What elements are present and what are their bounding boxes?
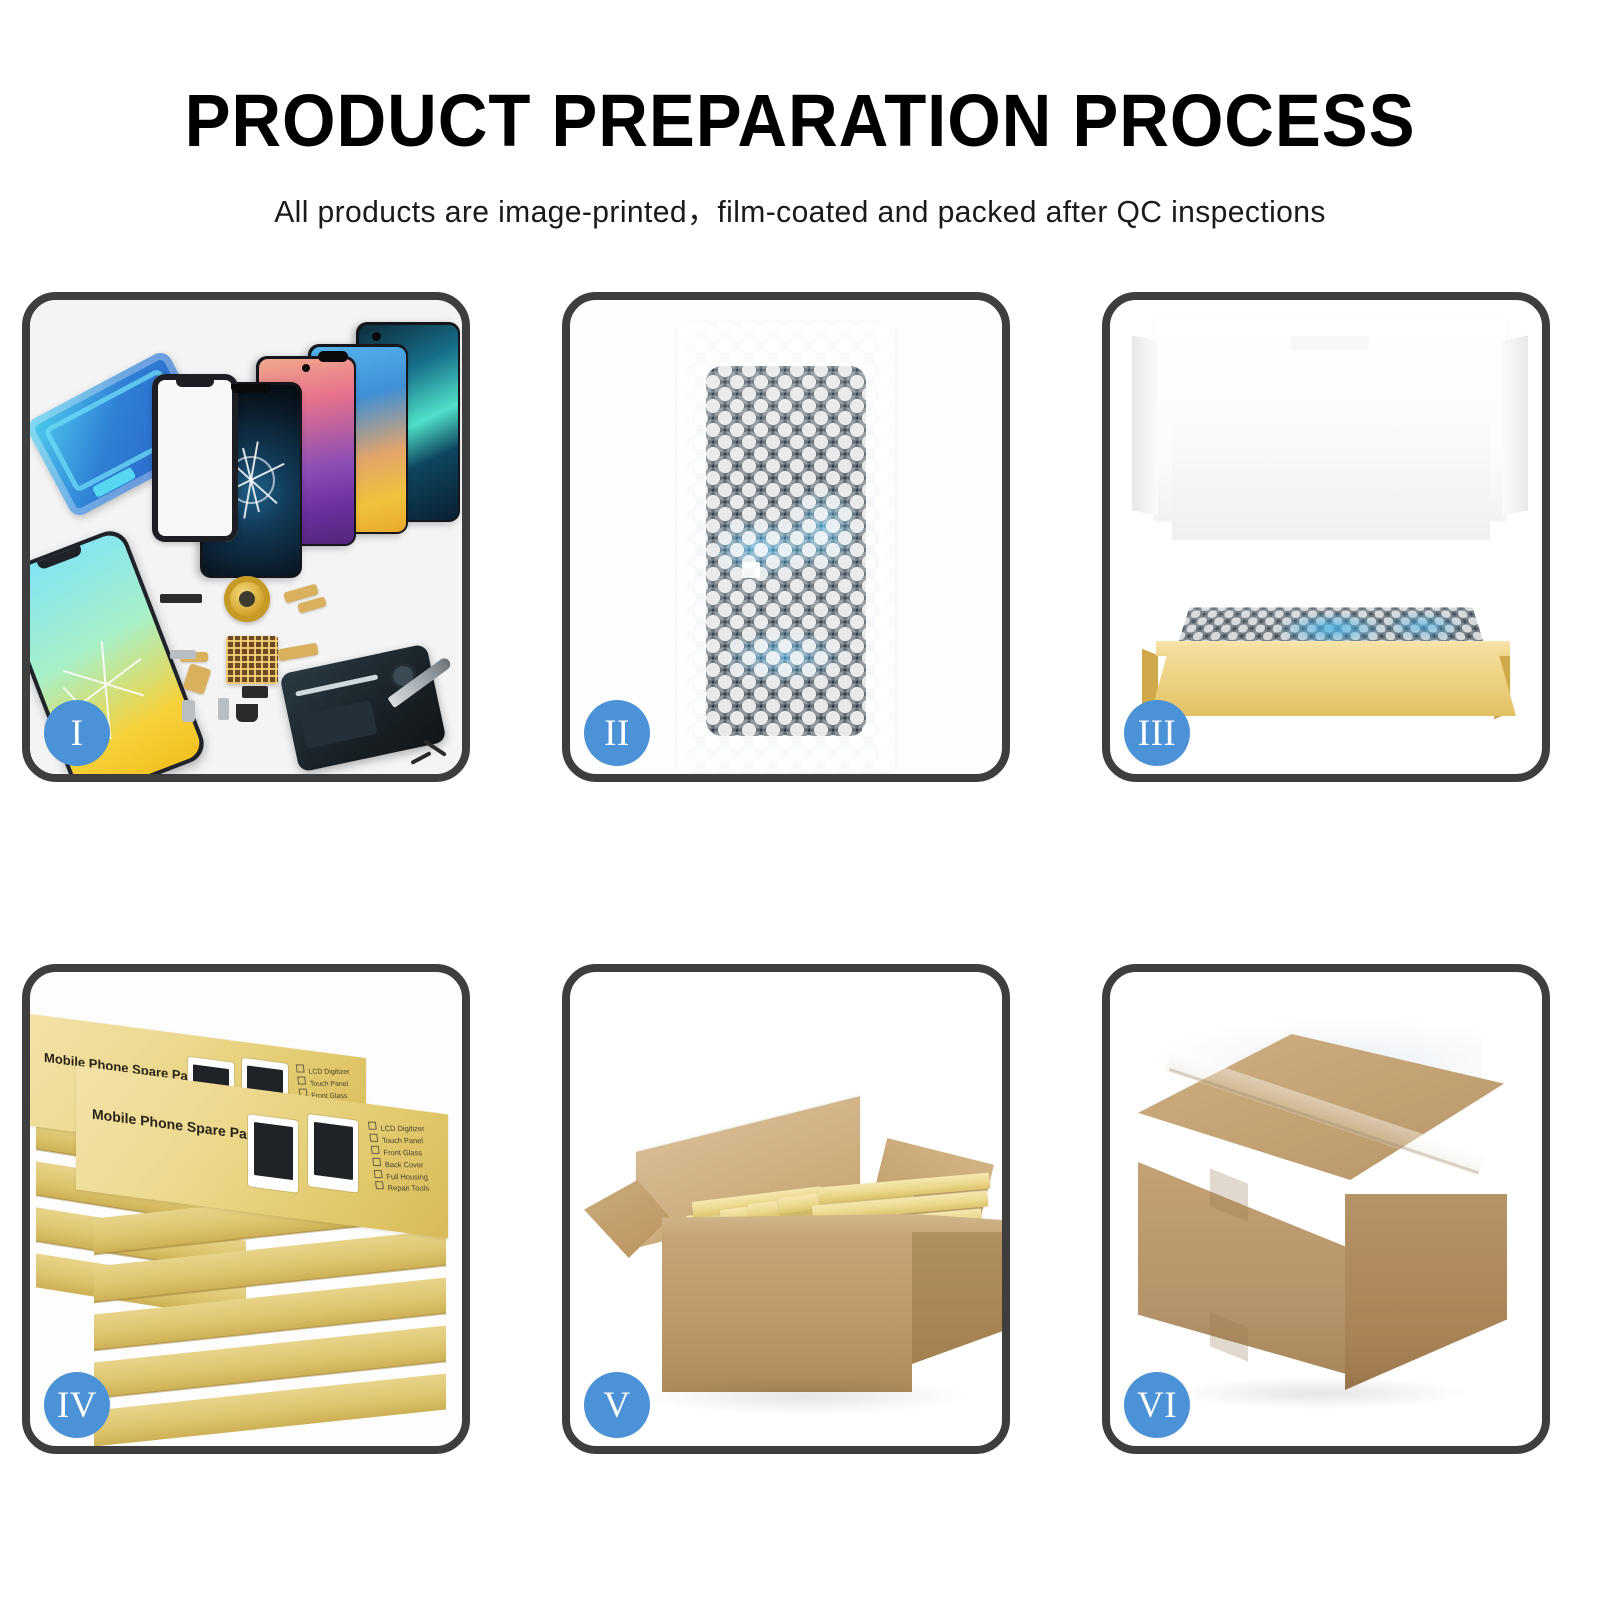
button-part [218,698,229,720]
mailer-lid-tab [1291,336,1369,350]
step-badge-5: V [584,1372,650,1438]
step-4-image: Mobile Phone Spare Parts LCD Digitizer T… [30,972,462,1446]
step-6-image [1110,972,1542,1446]
step-panel-2[interactable]: II [562,292,1010,782]
phone-lineup [150,322,460,550]
drop-shadow [640,1376,970,1416]
carton-front [662,1232,912,1392]
sim-tray-part [182,700,195,722]
step-3-image [1110,300,1542,774]
retail-box-top-front: Mobile Phone Spare Parts LCD Digitizer T… [76,1066,448,1239]
flex-cable-part [183,663,212,695]
page-title: PRODUCT PREPARATION PROCESS [56,84,1544,158]
wireless-charging-coil [224,576,270,622]
step-badge-2: II [584,700,650,766]
screwdriver-bit [410,751,431,765]
small-module-part [242,686,268,698]
page-subtitle: All products are image-printed，film-coat… [24,186,1576,231]
bubble-wrap-bag [677,322,895,772]
step-panel-1[interactable]: I [22,292,470,782]
drop-shadow [1170,1376,1470,1410]
step-panel-3[interactable]: III [1102,292,1550,782]
step-5-image [570,972,1002,1446]
step-panel-4[interactable]: Mobile Phone Spare Parts LCD Digitizer T… [22,964,470,1454]
retail-box-checklist: LCD Digitizer Touch Panel Front Glass Ba… [368,1122,432,1194]
step-2-image [570,300,1002,774]
logic-chip [226,636,278,684]
bag-edge-left [677,322,693,772]
header: PRODUCT PREPARATION PROCESS All products… [0,0,1600,231]
taptic-part [236,704,258,722]
step-badge-3: III [1124,700,1190,766]
speaker-mesh-part [160,594,202,603]
mailer-box-tray [1150,650,1516,716]
step-badge-6: VI [1124,1372,1190,1438]
step-1-image [30,300,462,774]
step-badge-4: IV [44,1372,110,1438]
retail-box-photo [248,1114,298,1193]
retail-box-photo [308,1114,358,1193]
metal-bracket-part [170,650,196,659]
sealed-carton-side [1345,1194,1507,1390]
bag-edge-right [879,322,895,772]
infographic-page: PRODUCT PREPARATION PROCESS All products… [0,0,1600,1600]
mailer-box-inner-wall [1172,412,1490,540]
back-housing-part [279,643,447,772]
front-glass-protector [152,374,238,542]
bubble-texture [677,322,895,772]
flex-cable-part [277,643,318,662]
step-panel-5[interactable]: V [562,964,1010,1454]
step-panel-6[interactable]: VI [1102,964,1550,1454]
process-grid: I II [22,292,1578,1454]
step-badge-1: I [44,700,110,766]
carton-side-right [912,1232,1002,1364]
